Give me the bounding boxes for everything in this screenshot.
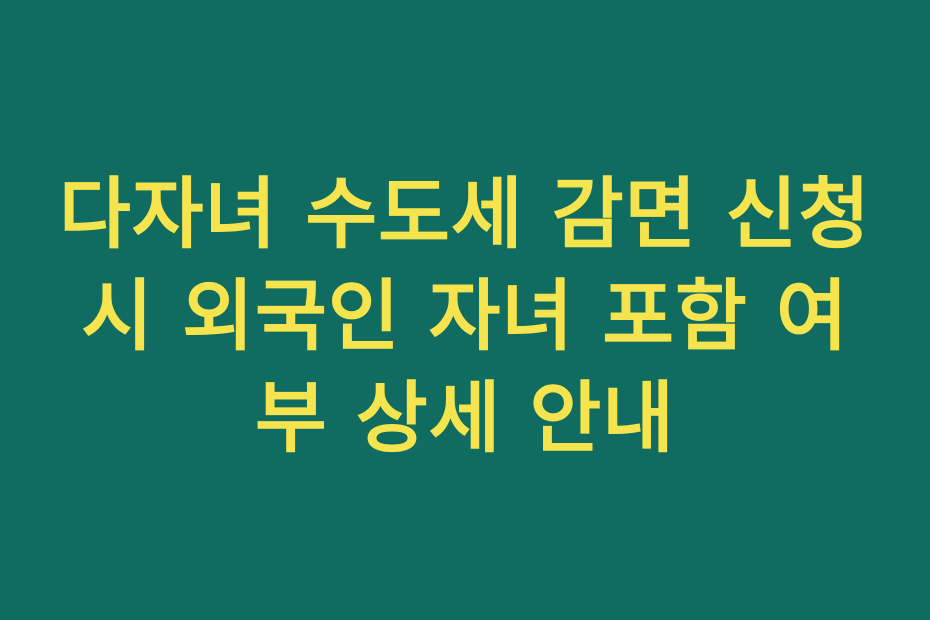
title-line-1: 다자녀 수도세 감면 신청 (50, 164, 880, 266)
title-line-2: 시 외국인 자녀 포함 여 (50, 266, 880, 368)
title-line-3: 부 상세 안내 (50, 368, 880, 470)
page-title: 다자녀 수도세 감면 신청 시 외국인 자녀 포함 여 부 상세 안내 (50, 164, 880, 470)
title-card-banner: 다자녀 수도세 감면 신청 시 외국인 자녀 포함 여 부 상세 안내 (0, 0, 930, 620)
